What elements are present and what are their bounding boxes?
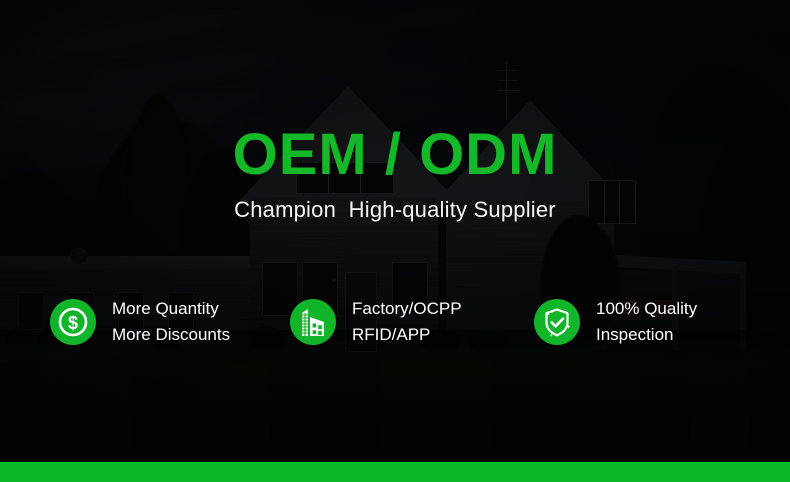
dollar-circle-icon: $ xyxy=(56,305,90,339)
shield-check-icon xyxy=(540,305,574,339)
feature-item-factory-ocpp: Factory/OCPP RFID/APP xyxy=(290,296,534,348)
feature-icon-badge xyxy=(290,299,336,345)
banner-content: OEM / ODM Champion High-quality Supplier… xyxy=(0,0,790,482)
feature-label: More Quantity More Discounts xyxy=(112,296,230,348)
feature-label-line2: More Discounts xyxy=(112,322,230,348)
feature-label-line2: Inspection xyxy=(596,322,697,348)
factory-building-icon xyxy=(297,306,329,338)
feature-item-quality-inspection: 100% Quality Inspection xyxy=(534,296,750,348)
feature-list: $ More Quantity More Discounts xyxy=(50,296,750,348)
feature-label-line1: 100% Quality xyxy=(596,299,697,318)
svg-text:$: $ xyxy=(68,313,78,333)
feature-icon-badge: $ xyxy=(50,299,96,345)
page-subtitle: Champion High-quality Supplier xyxy=(0,197,790,223)
feature-item-more-quantity: $ More Quantity More Discounts xyxy=(50,296,290,348)
feature-label-line1: Factory/OCPP xyxy=(352,299,462,318)
feature-label-line2: RFID/APP xyxy=(352,322,462,348)
bottom-accent-bar xyxy=(0,462,790,482)
feature-label: Factory/OCPP RFID/APP xyxy=(352,296,462,348)
feature-label-line1: More Quantity xyxy=(112,299,219,318)
feature-icon-badge xyxy=(534,299,580,345)
oem-odm-promo-banner: OEM / ODM Champion High-quality Supplier… xyxy=(0,0,790,482)
page-title: OEM / ODM xyxy=(0,126,790,184)
feature-label: 100% Quality Inspection xyxy=(596,296,697,348)
